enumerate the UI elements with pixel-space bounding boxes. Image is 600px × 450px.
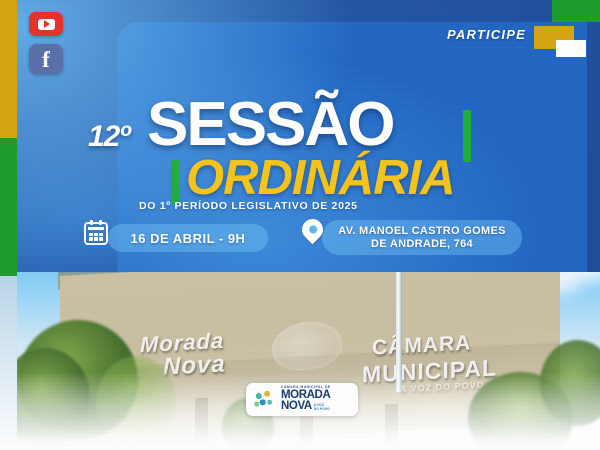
event-date-pill: 16 DE ABRIL - 9H [108, 224, 268, 252]
participe-label: PARTICIPE [447, 27, 526, 42]
badge-name-line2: NOVA [281, 401, 312, 413]
session-ordinal: 12º [88, 120, 129, 154]
badge-text-block: CÂMARA MUNICIPAL DE MORADA NOVA A VOZ DO… [281, 386, 353, 412]
address-line-2: DE ANDRADE, 764 [371, 238, 473, 251]
badge-slogan: A VOZ DO POVO [314, 403, 330, 413]
council-logo-badge: CÂMARA MUNICIPAL DE MORADA NOVA A VOZ DO… [246, 383, 358, 416]
youtube-icon[interactable] [29, 12, 63, 36]
corner-square-white [556, 40, 586, 57]
headline-sessao: SESSÃO [147, 96, 393, 155]
social-links[interactable]: f [29, 12, 63, 74]
calendar-peg [99, 220, 102, 225]
badge-slogan-line2: DO POVO [314, 407, 330, 411]
calendar-icon [84, 222, 108, 245]
event-address-pill: AV. MANOEL CASTRO GOMES DE ANDRADE, 764 [322, 220, 522, 255]
green-accent-bar-left [171, 160, 180, 204]
map-mosaic-icon [251, 388, 277, 411]
corner-square-green [552, 0, 600, 22]
left-bar-gold [0, 0, 17, 138]
left-bar-green [0, 138, 17, 276]
address-line-1: AV. MANOEL CASTRO GOMES [338, 225, 505, 238]
green-accent-bar-right [463, 110, 471, 162]
play-triangle-icon [44, 20, 50, 28]
headline-subtitle: DO 1º PERÍODO LEGISLATIVO DE 2025 [139, 200, 358, 212]
headline-ordinaria: ORDINÁRIA [186, 154, 455, 203]
facebook-icon[interactable]: f [29, 44, 63, 74]
calendar-dots [89, 233, 103, 241]
event-poster: Morada Nova CÂMARA MUNICIPAL A VOZ DO PO… [0, 0, 600, 450]
left-bar-white [0, 276, 17, 450]
calendar-peg [90, 220, 93, 225]
youtube-play-body [38, 19, 55, 30]
flagpole [396, 252, 402, 392]
badge-name-row: NOVA A VOZ DO POVO [281, 401, 353, 413]
